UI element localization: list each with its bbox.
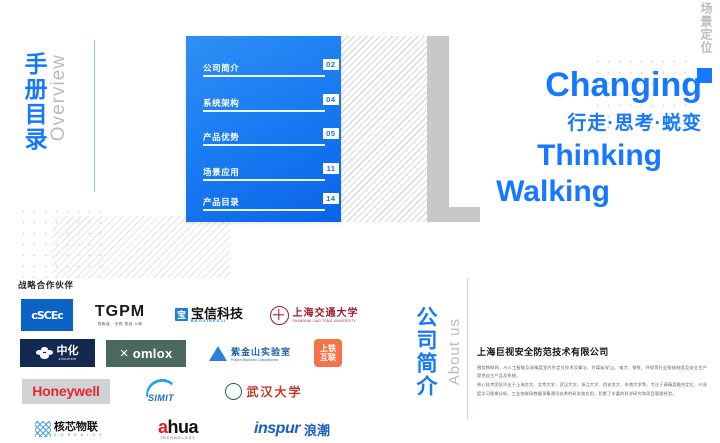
about-heading-cn: 公司简介: [414, 306, 436, 398]
about-paragraph: 围绕物联网、AI人工智能及高精度室内外定位技术及算法，为煤炭/矿山、电力、钢铁、…: [477, 364, 707, 380]
logo-whu-cn: 武汉大学: [246, 383, 302, 400]
coreaiot-mesh-icon: [35, 421, 51, 437]
logo-baoxin-cn: 宝信科技: [191, 307, 243, 320]
logo-purple-mountain[interactable]: 紫金山实验室 Purple Mountain Laboratories: [192, 345, 308, 362]
partner-row: 中化 sinochem ✕ omlox 紫金山实验室 Purple Mounta…: [14, 334, 374, 372]
toc-item-page: 14: [323, 193, 339, 204]
logo-honeywell[interactable]: Honeywell: [14, 379, 118, 404]
toc-item-label: 场景应用: [203, 166, 239, 178]
toc-item-page: 11: [323, 163, 339, 174]
logo-sinochem-en: sinochem: [57, 357, 79, 361]
logo-omlox-text: omlox: [133, 346, 173, 361]
hero-text-block: Changing 行走·思考·蜕变 Thinking Walking: [452, 68, 702, 207]
top-right-vertical-label: 场景定位: [698, 2, 712, 54]
toc-item-rule: [203, 75, 325, 77]
toc-item-rule: [203, 179, 325, 181]
section-heading-en: Overview: [48, 54, 70, 141]
gray-l-horizontal: [427, 207, 480, 222]
hero-line-thinking: Thinking: [452, 141, 702, 171]
diagonal-hatch-bottom-left: [52, 216, 230, 278]
logo-baoxinkeji[interactable]: 宝 宝信科技 BAOXINKEJI: [160, 307, 258, 324]
divider-about-vertical: [467, 278, 468, 420]
logo-inspur-cn: 浪潮: [304, 420, 330, 439]
logo-tgpm[interactable]: TGPM 同致诚 · 天同 恒创 人和: [80, 304, 160, 327]
logo-pml-cn: 紫金山实验室: [231, 345, 291, 358]
section-heading-cn: 手册目录: [22, 52, 46, 152]
about-heading-en: About us: [446, 318, 463, 385]
about-body: 围绕物联网、AI人工智能及高精度室内外定位技术及算法，为煤炭/矿山、电力、钢铁、…: [477, 364, 707, 399]
toc-item-1[interactable]: 系统架构 04: [203, 97, 325, 119]
sinochem-flower-icon: [36, 346, 53, 360]
logo-dahua-a: a: [158, 418, 168, 437]
logo-dahua-sub: TECHNOLOGY: [160, 436, 196, 440]
toc-item-4[interactable]: 产品目录 14: [203, 196, 325, 218]
logo-omlox[interactable]: ✕ omlox: [100, 340, 192, 367]
logo-sjtu[interactable]: 上海交通大学 SHANGHAI JIAO TONG UNIVERSITY: [258, 306, 370, 325]
logo-honeywell-text: Honeywell: [32, 383, 99, 399]
logo-cscec-text: cSCEc: [31, 309, 63, 322]
divider-left-vertical: [94, 40, 95, 192]
toc-item-label: 公司简介: [203, 62, 239, 74]
whu-seal-icon: [225, 383, 242, 400]
omlox-x-icon: ✕: [119, 347, 128, 360]
hero-line-walking: Walking: [452, 177, 702, 207]
toc-card: 公司简介 02 系统架构 04 产品优势 05 场景应用 11 产品目录 14: [186, 36, 341, 222]
top-right-blue-square: [697, 68, 712, 83]
toc-item-2[interactable]: 产品优势 05: [203, 131, 325, 153]
purple-mountain-triangle-icon: [209, 346, 227, 361]
logo-whu[interactable]: 武汉大学: [204, 383, 324, 400]
logo-simit[interactable]: SIMIT: [118, 379, 204, 403]
logo-dahua[interactable]: ahua TECHNOLOGY: [124, 418, 232, 440]
partners-heading: 战略合作伙伴: [18, 279, 74, 291]
toc-item-rule: [203, 209, 325, 211]
hero-line-cn: 行走·思考·蜕变: [452, 108, 702, 135]
logo-sjtu-en: SHANGHAI JIAO TONG UNIVERSITY: [293, 319, 359, 323]
logo-cscec[interactable]: cSCEc: [14, 299, 80, 331]
about-paragraph: 核心技术团队毕业于上海交大、北京大学、武汉大学、浙江大学、西安交大、东南大学等，…: [477, 381, 707, 397]
toc-item-page: 02: [323, 59, 339, 70]
toc-item-label: 产品目录: [203, 196, 239, 208]
logo-tgpm-sub: 同致诚 · 天同 恒创 人和: [86, 322, 154, 327]
logo-inspur[interactable]: inspur 浪潮: [232, 420, 352, 439]
logo-sinochem[interactable]: 中化 sinochem: [14, 339, 100, 367]
logo-shangtie-line2: 互联: [320, 353, 336, 362]
logo-dahua-rest: hua: [168, 418, 199, 437]
toc-item-label: 系统架构: [203, 97, 239, 109]
toc-item-label: 产品优势: [203, 131, 239, 143]
partner-row: Honeywell SIMIT 武汉大学: [14, 372, 374, 410]
logo-baoxin-mark: 宝: [175, 308, 188, 321]
logo-sinochem-cn: 中化: [57, 346, 79, 357]
logo-tgpm-text: TGPM: [86, 304, 154, 320]
logo-shangtie-line1: 上铁: [320, 344, 336, 353]
slide-canvas: 手册目录 Overview 公司简介 02 系统架构 04 产品优势 05 场景…: [0, 0, 720, 443]
toc-item-page: 05: [323, 128, 339, 139]
toc-item-page: 04: [323, 94, 339, 105]
diagonal-hatch-panel: [341, 36, 427, 222]
toc-item-0[interactable]: 公司简介 02: [203, 62, 325, 84]
company-name: 上海巨视安全防范技术有限公司: [477, 345, 609, 358]
gray-l-vertical: [427, 36, 449, 222]
toc-item-rule: [203, 110, 325, 112]
toc-item-3[interactable]: 场景应用 11: [203, 166, 325, 188]
partner-row: 核芯物联 C O R E A I O T ahua TECHNOLOGY ins…: [14, 410, 374, 443]
logo-shangtie[interactable]: 上铁 互联: [308, 339, 348, 367]
section-heading-overview: 手册目录 Overview: [22, 52, 70, 152]
logo-coreaiot-cn: 核芯物联: [54, 422, 103, 433]
hero-line-changing: Changing: [452, 68, 702, 102]
logo-inspur-en: inspur: [254, 420, 300, 438]
logo-coreaiot[interactable]: 核芯物联 C O R E A I O T: [14, 421, 124, 437]
toc-item-rule: [203, 144, 325, 146]
logo-pml-en: Purple Mountain Laboratories: [231, 358, 291, 362]
sjtu-seal-icon: [270, 306, 289, 325]
partner-row: cSCEc TGPM 同致诚 · 天同 恒创 人和 宝 宝信科技 BAOXINK…: [14, 296, 374, 334]
logo-coreaiot-en: C O R E A I O T: [54, 433, 103, 437]
partner-logo-grid: cSCEc TGPM 同致诚 · 天同 恒创 人和 宝 宝信科技 BAOXINK…: [14, 296, 374, 443]
logo-sjtu-cn: 上海交通大学: [293, 308, 359, 319]
